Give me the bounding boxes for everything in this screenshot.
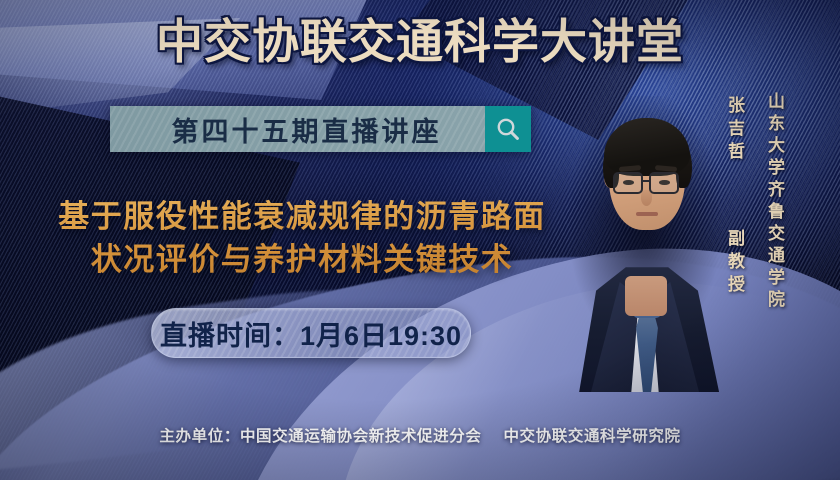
- livestream-poster: 中交协联交通科学大讲堂 第四十五期直播讲座 基于服役性能衰减规律的沥青路面 状况…: [0, 0, 840, 480]
- portrait-glasses-lens-right: [649, 172, 679, 194]
- portrait-mouth: [636, 212, 658, 216]
- footer-prefix: 主办单位：: [159, 428, 240, 445]
- speaker-name: 张吉哲: [725, 96, 744, 165]
- lecture-title: 基于服役性能衰减规律的沥青路面 状况评价与养护材料关键技术: [22, 196, 582, 282]
- footer-organizer-1: 中国交通运输协会新技术促进分会: [240, 428, 482, 445]
- series-title: 中交协联交通科学大讲堂: [0, 14, 840, 69]
- episode-label: 第四十五期直播讲座: [110, 110, 485, 149]
- portrait-glasses-bridge: [643, 180, 651, 182]
- broadcast-time-badge: 直播时间：1月6日19:30: [151, 308, 471, 358]
- speaker-organization: 山东大学齐鲁交通学院: [762, 92, 787, 312]
- speaker-name-column: 张吉哲 副教授: [722, 96, 747, 298]
- footer-organizer-2: 中交协联交通科学研究院: [503, 428, 680, 445]
- portrait-nose: [641, 190, 652, 206]
- search-button[interactable]: [485, 106, 531, 152]
- lecture-title-line-2: 状况评价与养护材料关键技术: [22, 239, 582, 282]
- portrait-glasses-lens-left: [613, 172, 643, 194]
- speaker-rank: 副教授: [725, 229, 744, 298]
- episode-banner: 第四十五期直播讲座: [110, 106, 531, 152]
- portrait-neck: [625, 276, 667, 316]
- lecture-title-line-1: 基于服役性能衰减规律的沥青路面: [22, 196, 582, 239]
- broadcast-time-text: 直播时间：1月6日19:30: [160, 314, 462, 353]
- footer-organizers: 主办单位：中国交通运输协会新技术促进分会中交协联交通科学研究院: [0, 424, 840, 446]
- search-icon: [495, 116, 521, 142]
